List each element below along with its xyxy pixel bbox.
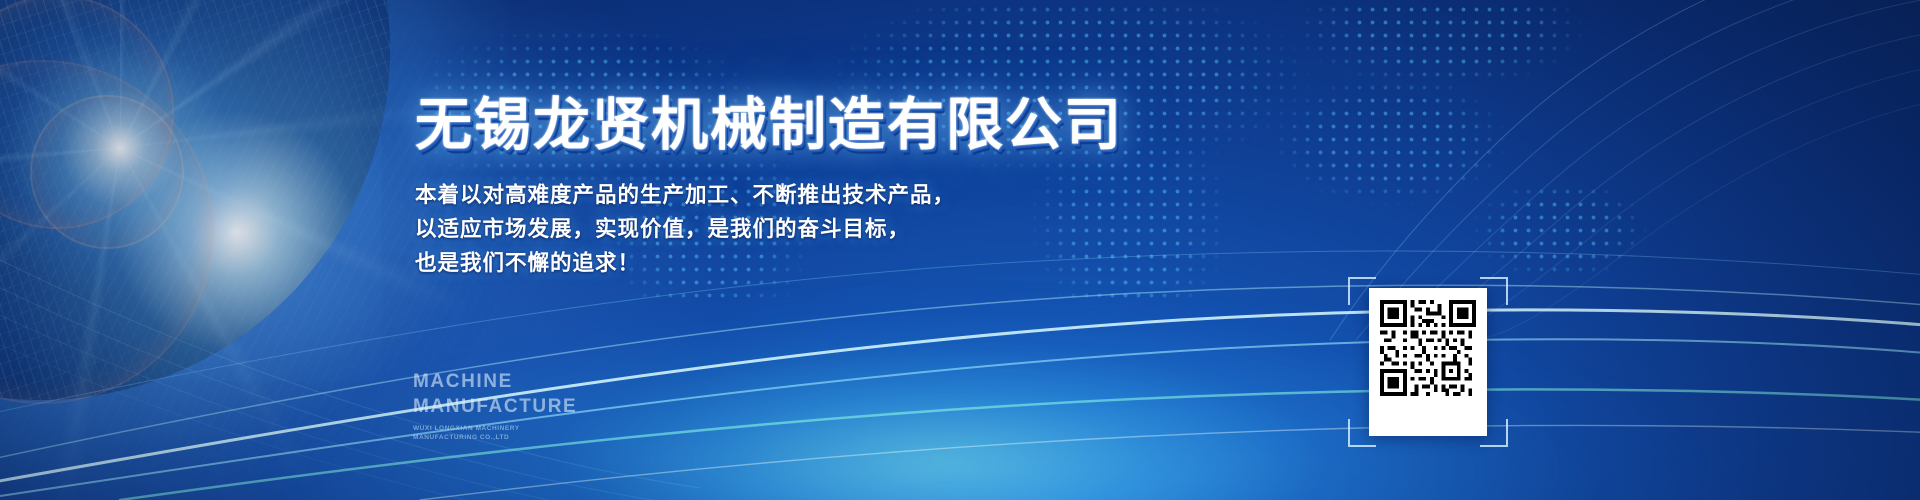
banner-text-block: 无锡龙贤机械制造有限公司 本着以对高难度产品的生产加工、不断推出技术产品， 以适… [415, 96, 1215, 280]
qr-code-icon [1380, 300, 1476, 396]
wordmark-line-1: MACHINE [413, 372, 577, 391]
tagline-line-1: 本着以对高难度产品的生产加工、不断推出技术产品， [415, 178, 1215, 212]
page-title: 无锡龙贤机械制造有限公司 [415, 96, 1215, 156]
qr-card [1369, 288, 1487, 436]
promotional-banner: 无锡龙贤机械制造有限公司 本着以对高难度产品的生产加工、不断推出技术产品， 以适… [0, 0, 1920, 500]
tagline-line-2: 以适应市场发展，实现价值，是我们的奋斗目标， [415, 212, 1215, 246]
wordmark: MACHINE MANUFACTURE WUXI LONGXIAN MACHIN… [413, 372, 577, 442]
tagline-group: 本着以对高难度产品的生产加工、不断推出技术产品， 以适应市场发展，实现价值，是我… [415, 178, 1215, 280]
qr-code-panel[interactable] [1369, 288, 1487, 436]
wordmark-line-2: MANUFACTURE [413, 397, 577, 416]
wordmark-subtitle: WUXI LONGXIAN MACHINERY MANUFACTURING CO… [413, 424, 533, 442]
tagline-line-3: 也是我们不懈的追求！ [415, 246, 1215, 280]
